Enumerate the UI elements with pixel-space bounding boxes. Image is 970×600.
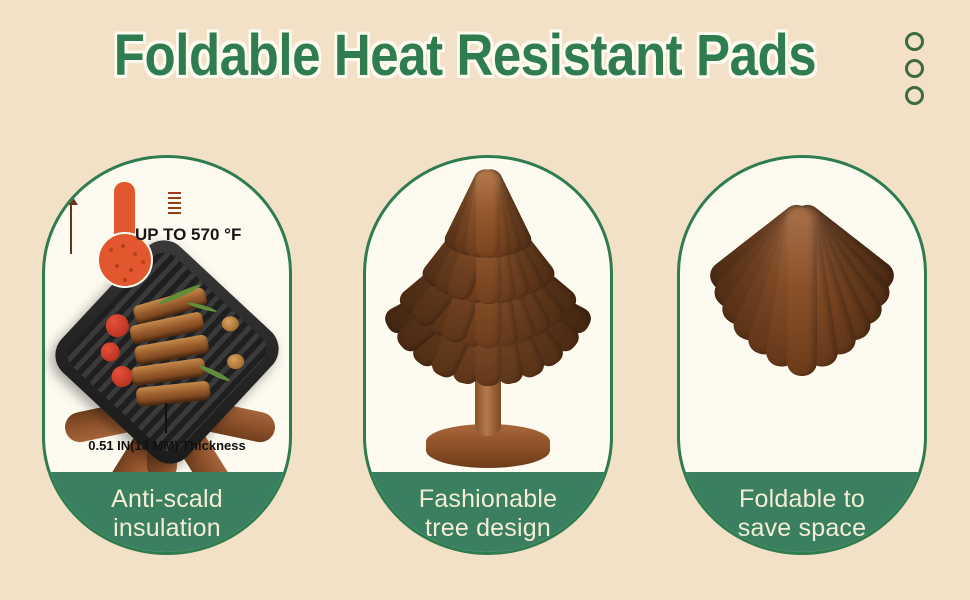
feature-panel-foldable[interactable]: Foldable to save space	[677, 155, 927, 555]
page-title: Foldable Heat Resistant Pads	[109, 22, 822, 89]
panel-photo-tree-stand	[366, 158, 610, 481]
folded-leaf	[787, 208, 817, 376]
decorative-dots-group	[905, 32, 924, 113]
pan-handle	[287, 211, 289, 325]
dot-icon	[905, 32, 924, 51]
panel-caption-anti-scald: Anti-scald insulation	[42, 472, 292, 555]
dot-icon	[905, 59, 924, 78]
caption-line-1: Foldable to	[739, 485, 865, 513]
tree-leaf	[476, 170, 500, 258]
caption-line-1: Anti-scald	[111, 485, 223, 513]
arrow-up-icon	[70, 202, 72, 254]
food-on-pan	[103, 291, 257, 426]
temperature-label: UP TO 570 °F	[135, 225, 241, 245]
panel-photo-grill-pan: UP TO 570 °F 0.51 IN(13 MM) Thickness	[45, 158, 289, 481]
caption-line-2: save space	[738, 514, 866, 542]
temperature-badge: UP TO 570 °F	[65, 180, 185, 290]
dot-icon	[905, 86, 924, 105]
panel-photo-folded-pad	[680, 158, 924, 481]
wooden-tree-stand	[366, 166, 610, 476]
thickness-label: 0.51 IN(13 MM) Thickness	[45, 438, 289, 453]
caption-line-2: tree design	[425, 514, 551, 542]
feature-panel-tree-design[interactable]: Fashionable tree design	[363, 155, 613, 555]
thickness-marker-line	[165, 403, 167, 433]
caption-line-1: Fashionable	[419, 485, 557, 513]
feature-panel-anti-scald[interactable]: UP TO 570 °F 0.51 IN(13 MM) Thickness An…	[42, 155, 292, 555]
banner-header: Foldable Heat Resistant Pads	[0, 0, 970, 150]
panel-caption-foldable: Foldable to save space	[677, 472, 927, 555]
caption-line-2: insulation	[113, 514, 221, 542]
folded-wooden-pad	[680, 198, 924, 468]
panel-caption-tree-design: Fashionable tree design	[363, 472, 613, 555]
feature-panels: UP TO 570 °F 0.51 IN(13 MM) Thickness An…	[0, 155, 970, 555]
